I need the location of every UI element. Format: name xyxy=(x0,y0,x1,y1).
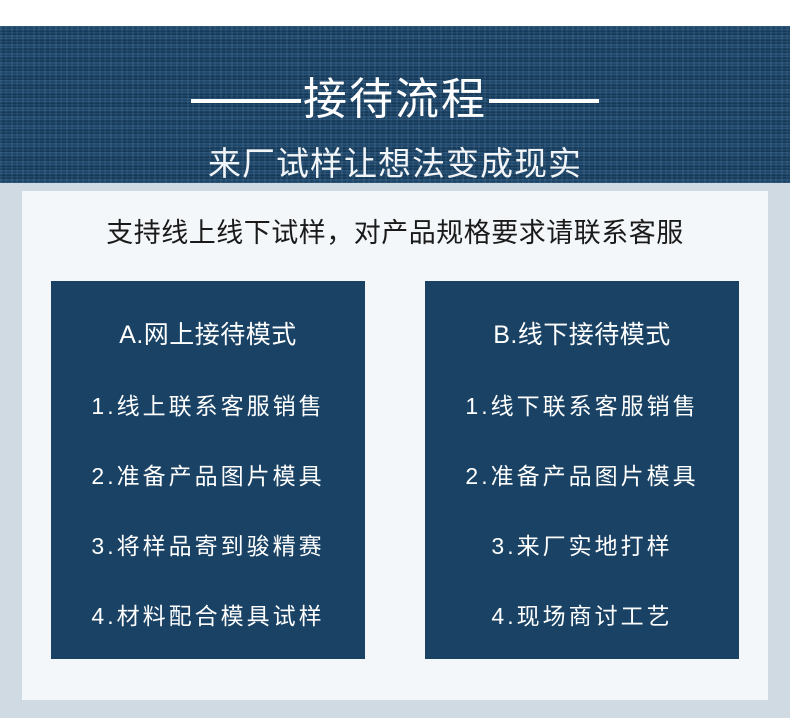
list-item: 4.材料配合模具试样 xyxy=(51,579,365,649)
list-item: 1.线下联系客服销售 xyxy=(425,369,739,439)
process-card-online-title: A.网上接待模式 xyxy=(51,315,365,351)
list-item-label: 3.来厂实地打样 xyxy=(491,527,672,561)
list-item-label: 2.准备产品图片模具 xyxy=(465,457,698,491)
panel-heading: 支持线上线下试样，对产品规格要求请联系客服 xyxy=(22,211,768,250)
process-cards-container: A.网上接待模式 1.线上联系客服销售 2.准备产品图片模具 3.将样品寄到骏精… xyxy=(51,281,739,659)
list-item-label: 2.准备产品图片模具 xyxy=(91,457,324,491)
header-banner-content: 接待流程 来厂试样让想法变成现实 xyxy=(0,26,790,183)
list-item-label: 3.将样品寄到骏精赛 xyxy=(91,527,324,561)
content-frame: 支持线上线下试样，对产品规格要求请联系客服 A.网上接待模式 1.线上联系客服销… xyxy=(0,183,790,718)
banner-title-row: 接待流程 xyxy=(0,70,790,132)
list-item-label: 1.线上联系客服销售 xyxy=(91,387,324,421)
list-item: 1.线上联系客服销售 xyxy=(51,369,365,439)
list-item: 4.现场商讨工艺 xyxy=(425,579,739,649)
banner-subtitle: 来厂试样让想法变成现实 xyxy=(0,146,790,182)
decorative-rule-right-icon xyxy=(489,99,599,103)
list-item: 2.准备产品图片模具 xyxy=(425,439,739,509)
content-panel: 支持线上线下试样，对产品规格要求请联系客服 A.网上接待模式 1.线上联系客服销… xyxy=(22,191,768,700)
decorative-rule-left-icon xyxy=(191,99,301,103)
list-item: 3.来厂实地打样 xyxy=(425,509,739,579)
banner-title: 接待流程 xyxy=(301,78,489,122)
list-item-label: 4.材料配合模具试样 xyxy=(91,597,324,631)
list-item-label: 1.线下联系客服销售 xyxy=(465,387,698,421)
header-banner: 接待流程 来厂试样让想法变成现实 xyxy=(0,26,790,183)
promo-page: 接待流程 来厂试样让想法变成现实 支持线上线下试样，对产品规格要求请联系客服 A… xyxy=(0,0,790,718)
process-card-offline-list: 1.线下联系客服销售 2.准备产品图片模具 3.来厂实地打样 4.现场商讨工艺 xyxy=(425,369,739,649)
list-item-label: 4.现场商讨工艺 xyxy=(491,597,672,631)
process-card-online-list: 1.线上联系客服销售 2.准备产品图片模具 3.将样品寄到骏精赛 4.材料配合模… xyxy=(51,369,365,649)
process-card-offline: B.线下接待模式 1.线下联系客服销售 2.准备产品图片模具 3.来厂实地打样 … xyxy=(425,281,739,659)
list-item: 3.将样品寄到骏精赛 xyxy=(51,509,365,579)
process-card-offline-title: B.线下接待模式 xyxy=(425,315,739,351)
list-item: 2.准备产品图片模具 xyxy=(51,439,365,509)
process-card-online: A.网上接待模式 1.线上联系客服销售 2.准备产品图片模具 3.将样品寄到骏精… xyxy=(51,281,365,659)
